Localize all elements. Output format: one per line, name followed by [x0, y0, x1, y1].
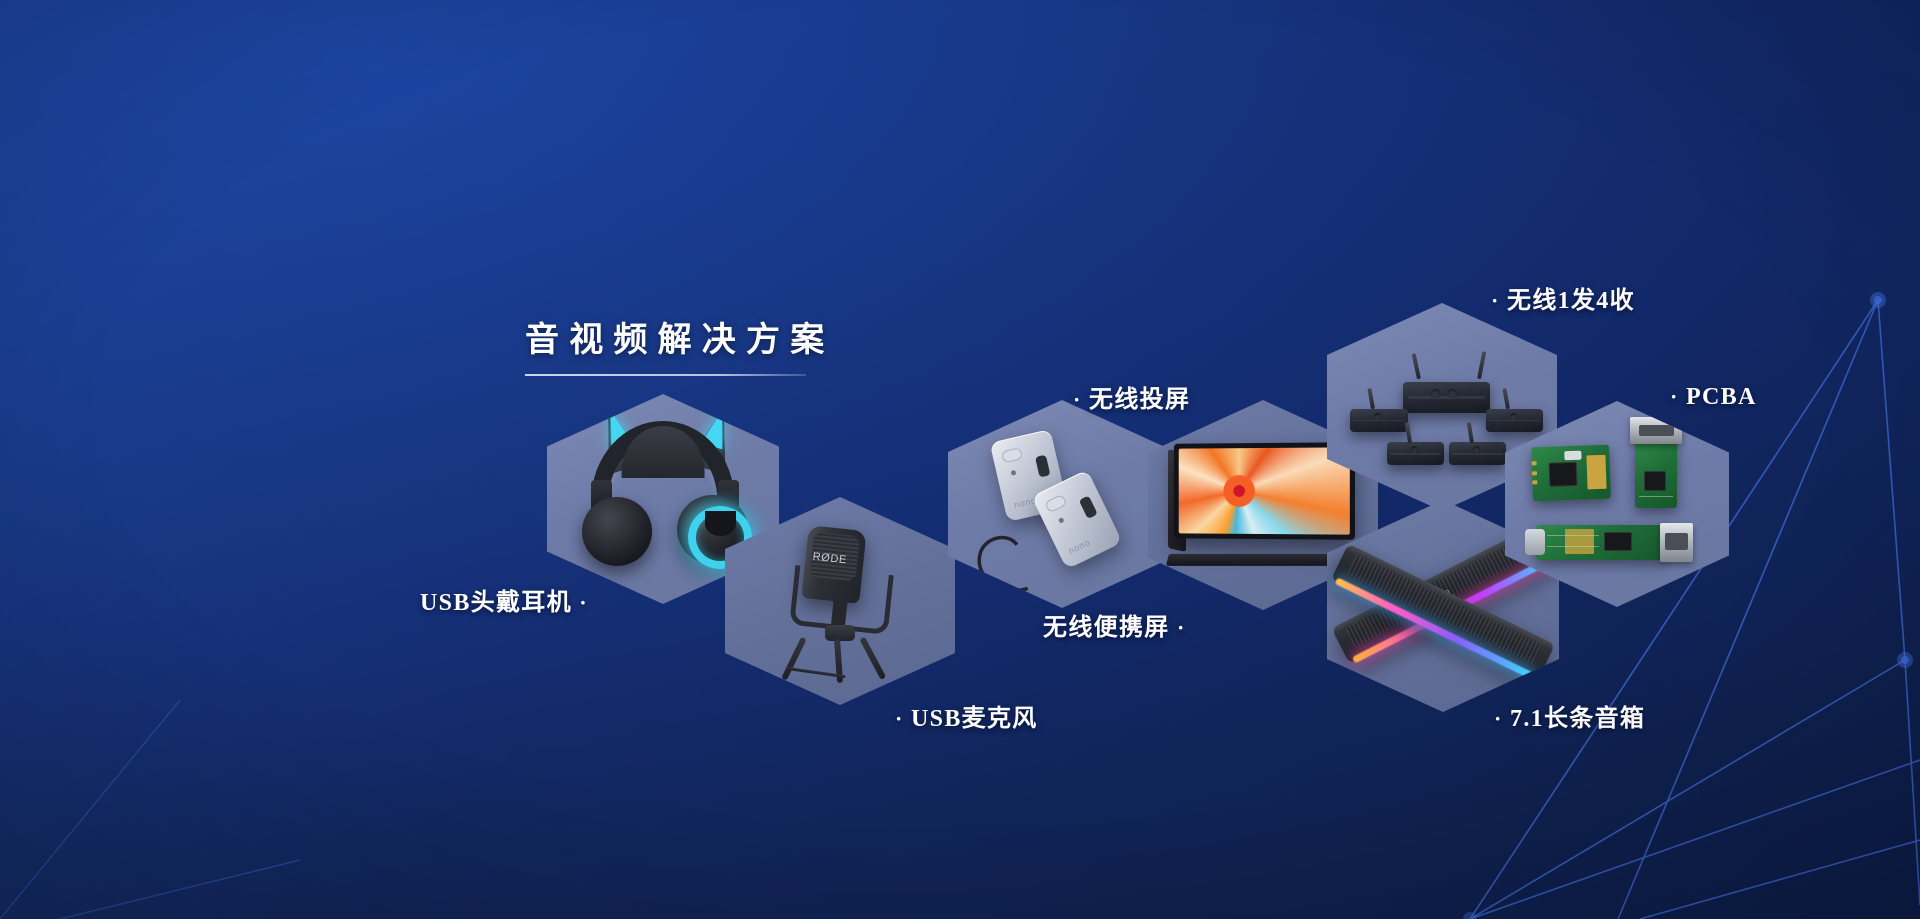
pcb-wifi-module	[1531, 445, 1611, 501]
label-soundbar-71-text: 7.1长条音箱	[1510, 706, 1645, 732]
wireless-module-upper-led	[1010, 471, 1016, 477]
microphone-tripod-hub	[825, 625, 856, 641]
wireless-module-upper-button	[1001, 448, 1024, 464]
receiver-unit-1	[1350, 409, 1408, 432]
pcb-usbc-trace-1	[1547, 535, 1599, 536]
pcb-usbc-chip	[1604, 532, 1633, 551]
wireless-module-lanyard	[962, 512, 1076, 599]
usb-microphone-image: RØDE	[743, 509, 936, 692]
label-usb-microphone-text: USB麦克风	[911, 706, 1038, 732]
receiver-2-antenna	[1404, 421, 1411, 442]
wireless-module-lower-button	[1044, 494, 1068, 513]
headphone-earcup-left	[582, 497, 653, 566]
receiver-2-led	[1411, 446, 1418, 453]
page-title: 音视频解决方案	[525, 312, 825, 361]
pcb-pad-2	[1532, 471, 1538, 475]
hdmi-connector-vertical-slot	[1639, 425, 1674, 436]
receiver-3-antenna	[1466, 421, 1473, 442]
receiver-3-led	[1473, 446, 1480, 453]
label-wireless-1tx-4rx: · 无线1发4收	[1491, 280, 1635, 315]
hdmi-connector-vertical	[1630, 417, 1682, 444]
receiver-1-led	[1374, 413, 1381, 420]
usbc-connector	[1525, 529, 1545, 556]
bullet-pcba: ·	[1670, 384, 1679, 409]
title-block: 音视频解决方案	[525, 312, 825, 376]
wireless-transmitter-modules-image: nono nono	[948, 400, 1176, 608]
bullet-usb-headset: ·	[579, 590, 588, 615]
transmitter-led-1	[1431, 389, 1440, 398]
pcb-hdmi-chip	[1644, 471, 1666, 491]
label-usb-headset: USB头戴耳机 ·	[420, 582, 588, 617]
label-pcba-text: PCBA	[1686, 384, 1757, 410]
bullet-usb-microphone: ·	[895, 706, 904, 731]
label-soundbar-71: · 7.1长条音箱	[1494, 698, 1645, 733]
bullet-wireless-portable-screen: ·	[1177, 615, 1186, 640]
title-underline	[525, 374, 806, 376]
transmitter-unit	[1403, 382, 1490, 413]
transmitter-antenna-left	[1411, 353, 1420, 379]
receiver-unit-2	[1387, 442, 1445, 465]
hdmi-connector-horizontal	[1660, 523, 1694, 562]
receiver-unit-4	[1486, 409, 1544, 432]
pcb-usbc-trace-2	[1547, 546, 1599, 547]
receiver-unit-3	[1449, 442, 1507, 465]
hdmi-connector-horizontal-slot	[1665, 533, 1688, 549]
receiver-4-antenna	[1503, 388, 1511, 409]
receiver-1-antenna	[1367, 388, 1375, 409]
transmitter-led-2	[1448, 389, 1457, 398]
transmitter-antenna-right	[1477, 351, 1486, 379]
label-pcba: · PCBA	[1670, 384, 1757, 411]
label-usb-microphone: · USB麦克风	[895, 698, 1038, 733]
monitor-wallpaper-flower	[1179, 447, 1350, 535]
pcb-antenna-trace	[1586, 455, 1606, 490]
label-wireless-screen-cast: · 无线投屏	[1073, 379, 1190, 414]
pcb-hdmi-trace	[1639, 496, 1673, 497]
bullet-wireless-screen-cast: ·	[1073, 387, 1082, 412]
label-wireless-1tx-4rx-text: 无线1发4收	[1507, 288, 1635, 314]
poster-stage: 音视频解决方案 USB头戴耳机 · RØDE	[0, 0, 1920, 919]
microphone-leg-right	[860, 636, 887, 679]
label-wireless-screen-cast-text: 无线投屏	[1089, 387, 1190, 413]
microphone-leg-left	[781, 636, 807, 680]
hexagon-wireless-portable-screen[interactable]: nono nono	[948, 400, 1176, 608]
pcb-wifi-crystal	[1564, 451, 1582, 460]
pcb-wifi-chip	[1549, 462, 1578, 487]
bullet-soundbar-71: ·	[1494, 706, 1503, 731]
pcb-pad-1	[1531, 461, 1537, 465]
label-wireless-portable-screen-text: 无线便携屏	[1043, 615, 1170, 641]
bullet-wireless-1tx-4rx: ·	[1491, 288, 1500, 313]
cat-ear-headphones-image	[575, 411, 751, 583]
pcb-pad-3	[1532, 481, 1538, 485]
label-usb-headset-text: USB头戴耳机	[420, 590, 572, 616]
pcb-usbc-gold-area	[1565, 529, 1594, 554]
pcb-hdmi-dongle	[1635, 442, 1678, 508]
label-wireless-portable-screen: 无线便携屏 ·	[1043, 607, 1186, 642]
pcb-usbc-hdmi-board	[1536, 525, 1666, 560]
receiver-4-led	[1510, 413, 1517, 420]
